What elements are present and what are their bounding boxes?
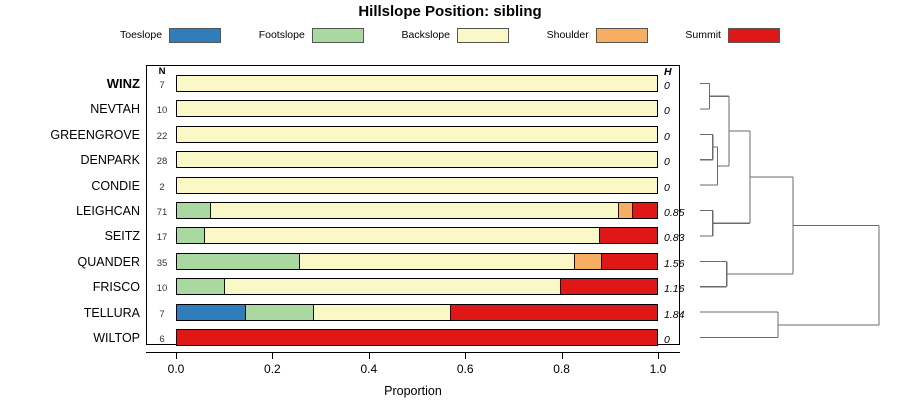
x-tick-label: 0.0: [156, 362, 196, 376]
row-label-denpark: DENPARK: [6, 154, 146, 166]
stacked-bar-frisco: [176, 278, 658, 295]
bar-segment-backslope: [314, 305, 451, 320]
bar-segment-summit: [600, 228, 657, 243]
stacked-bar-quander: [176, 253, 658, 270]
bar-segment-footslope: [177, 203, 211, 218]
dendrogram: [690, 65, 895, 345]
legend-swatch-shoulder: [596, 28, 648, 43]
stacked-bar-tellura: [176, 304, 658, 321]
row-n-value: 35: [150, 258, 174, 269]
x-tick: [465, 352, 466, 359]
x-tick-label: 0.4: [349, 362, 389, 376]
row-label-leighcan: LEIGHCAN: [6, 205, 146, 217]
row-label-winz: WINZ: [6, 78, 146, 90]
bar-segment-shoulder: [619, 203, 632, 218]
x-tick: [658, 352, 659, 359]
legend: ToeslopeFootslopeBackslopeShoulderSummit: [0, 26, 900, 44]
x-axis-line: [146, 352, 680, 353]
bar-segment-backslope: [177, 178, 657, 193]
x-tick-label: 0.6: [445, 362, 485, 376]
bar-segment-backslope: [211, 203, 619, 218]
legend-item-shoulder: Shoulder: [547, 28, 648, 43]
bar-segment-footslope: [246, 305, 315, 320]
row-label-condie: CONDIE: [6, 180, 146, 192]
stacked-bar-condie: [176, 177, 658, 194]
row-n-value: 17: [150, 232, 174, 243]
row-label-frisco: FRISCO: [6, 281, 146, 293]
bar-segment-shoulder: [575, 254, 602, 269]
bar-segment-backslope: [177, 127, 657, 142]
x-tick-label: 0.8: [542, 362, 582, 376]
stacked-bar-nevtah: [176, 100, 658, 117]
legend-item-footslope: Footslope: [259, 28, 364, 43]
legend-swatch-summit: [728, 28, 780, 43]
row-n-value: 10: [150, 283, 174, 294]
row-n-value: 28: [150, 156, 174, 167]
legend-label: Summit: [685, 29, 721, 41]
row-n-value: 2: [150, 182, 174, 193]
x-axis-title: Proportion: [146, 384, 680, 398]
row-n-value: 6: [150, 334, 174, 345]
row-n-value: 71: [150, 207, 174, 218]
legend-label: Toeslope: [120, 29, 162, 41]
page-title: Hillslope Position: sibling: [0, 3, 900, 20]
row-label-nevtah: NEVTAH: [6, 103, 146, 115]
legend-item-summit: Summit: [685, 28, 780, 43]
legend-item-toeslope: Toeslope: [120, 28, 221, 43]
stacked-bar-greengrove: [176, 126, 658, 143]
legend-swatch-toeslope: [169, 28, 221, 43]
stacked-bar-leighcan: [176, 202, 658, 219]
bar-segment-toeslope: [177, 305, 246, 320]
stacked-bar-winz: [176, 75, 658, 92]
bar-segment-backslope: [177, 76, 657, 91]
x-tick: [562, 352, 563, 359]
row-label-quander: QUANDER: [6, 256, 146, 268]
stacked-bar-seitz: [176, 227, 658, 244]
legend-label: Shoulder: [547, 29, 589, 41]
legend-swatch-backslope: [457, 28, 509, 43]
row-n-value: 7: [150, 309, 174, 320]
row-label-greengrove: GREENGROVE: [6, 129, 146, 141]
row-n-value: 7: [150, 80, 174, 91]
bar-segment-footslope: [177, 279, 225, 294]
row-label-wiltop: WILTOP: [6, 332, 146, 344]
chart-root: Hillslope Position: sibling ToeslopeFoot…: [0, 0, 900, 420]
bar-segment-backslope: [177, 152, 657, 167]
stacked-bar-denpark: [176, 151, 658, 168]
row-n-value: 10: [150, 105, 174, 116]
bar-segment-footslope: [177, 254, 300, 269]
bar-segment-summit: [451, 305, 657, 320]
legend-label: Footslope: [259, 29, 305, 41]
bar-segment-summit: [633, 203, 657, 218]
x-tick: [272, 352, 273, 359]
legend-item-backslope: Backslope: [402, 28, 509, 43]
x-tick: [176, 352, 177, 359]
legend-swatch-footslope: [312, 28, 364, 43]
bar-segment-backslope: [205, 228, 600, 243]
bar-segment-backslope: [225, 279, 561, 294]
bar-segment-footslope: [177, 228, 205, 243]
legend-label: Backslope: [402, 29, 450, 41]
bar-segment-summit: [177, 330, 657, 345]
x-tick-label: 1.0: [638, 362, 678, 376]
x-tick-label: 0.2: [252, 362, 292, 376]
bar-segment-summit: [602, 254, 657, 269]
stacked-bar-wiltop: [176, 329, 658, 346]
n-column-header: N: [150, 66, 174, 77]
bar-segment-backslope: [300, 254, 575, 269]
bar-segment-backslope: [177, 101, 657, 116]
x-tick: [369, 352, 370, 359]
row-label-tellura: TELLURA: [6, 307, 146, 319]
row-label-seitz: SEITZ: [6, 230, 146, 242]
row-n-value: 22: [150, 131, 174, 142]
bar-segment-summit: [561, 279, 657, 294]
